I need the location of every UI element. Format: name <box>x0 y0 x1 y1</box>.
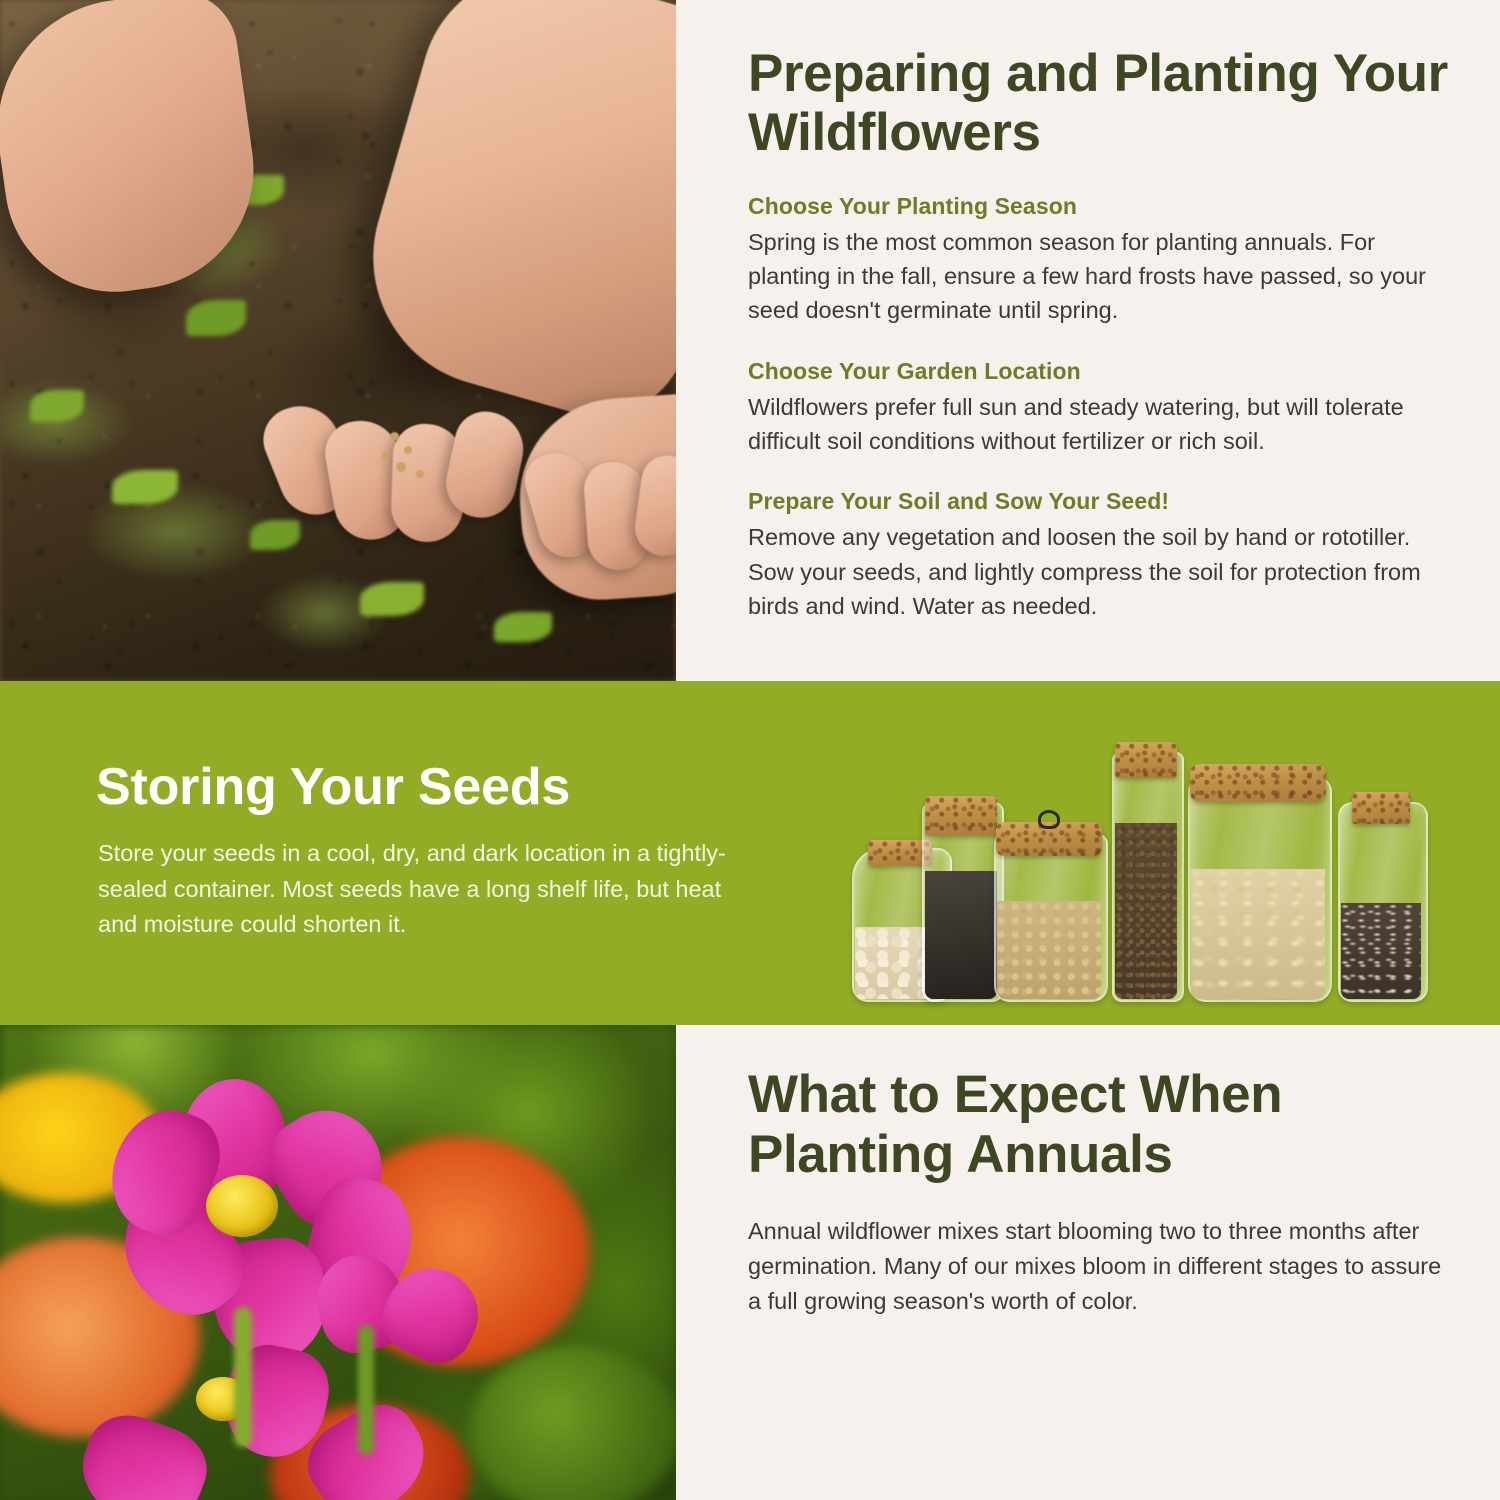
storing-seeds-body: Store your seeds in a cool, dry, and dar… <box>98 836 738 943</box>
sunflower-seed-jar <box>1338 794 1424 1002</box>
tan-seed-jar <box>994 826 1104 1002</box>
body-garden-location: Wildflowers prefer full sun and steady w… <box>748 390 1460 459</box>
seed <box>404 446 412 454</box>
what-to-expect-title: What to Expect When Planting Annuals <box>748 1025 1460 1186</box>
seedling-sprout <box>112 470 178 504</box>
storing-seeds-title: Storing Your Seeds <box>96 757 570 817</box>
jar-lid-knob <box>1038 810 1060 829</box>
dark-poppy-seed-jar <box>922 796 1000 1002</box>
seedling-sprout <box>250 520 300 550</box>
wildflower-bloom-photo <box>0 1025 676 1500</box>
tall-brown-seed-tube <box>1112 744 1180 1002</box>
seed-jars-photo <box>846 712 1446 1002</box>
block-garden-location: Choose Your Garden Location Wildflowers … <box>748 358 1460 459</box>
page-title: Preparing and Planting Your Wildflowers <box>748 0 1460 163</box>
top-text-column: Preparing and Planting Your Wildflowers … <box>748 0 1460 681</box>
pumpkin-seed-jar <box>1188 768 1328 1002</box>
seed <box>396 462 406 472</box>
subheading-prepare-soil: Prepare Your Soil and Sow Your Seed! <box>748 488 1460 515</box>
subheading-garden-location: Choose Your Garden Location <box>748 358 1460 385</box>
subheading-planting-season: Choose Your Planting Season <box>748 193 1460 220</box>
section-what-to-expect: What to Expect When Planting Annuals Ann… <box>0 1025 1500 1500</box>
stem <box>234 1307 252 1447</box>
block-prepare-soil: Prepare Your Soil and Sow Your Seed! Rem… <box>748 488 1460 623</box>
seedling-sprout <box>360 582 424 616</box>
cosmos-center <box>206 1175 278 1237</box>
hand-sowing-seeds-photo <box>0 0 676 681</box>
what-to-expect-body: Annual wildflower mixes start blooming t… <box>748 1214 1460 1320</box>
seedling-sprout <box>494 612 552 642</box>
infographic-page: Preparing and Planting Your Wildflowers … <box>0 0 1500 1500</box>
seedling-sprout <box>186 300 246 336</box>
seed <box>390 432 399 441</box>
seed <box>416 470 424 478</box>
section-preparing-planting: Preparing and Planting Your Wildflowers … <box>0 0 1500 681</box>
body-planting-season: Spring is the most common season for pla… <box>748 225 1460 328</box>
seedling-sprout <box>30 390 84 422</box>
block-planting-season: Choose Your Planting Season Spring is th… <box>748 193 1460 328</box>
leaf <box>470 1345 676 1500</box>
bottom-text-column: What to Expect When Planting Annuals Ann… <box>748 1025 1460 1500</box>
stem <box>358 1325 374 1455</box>
body-prepare-soil: Remove any vegetation and loosen the soi… <box>748 520 1460 623</box>
seed <box>382 452 389 459</box>
